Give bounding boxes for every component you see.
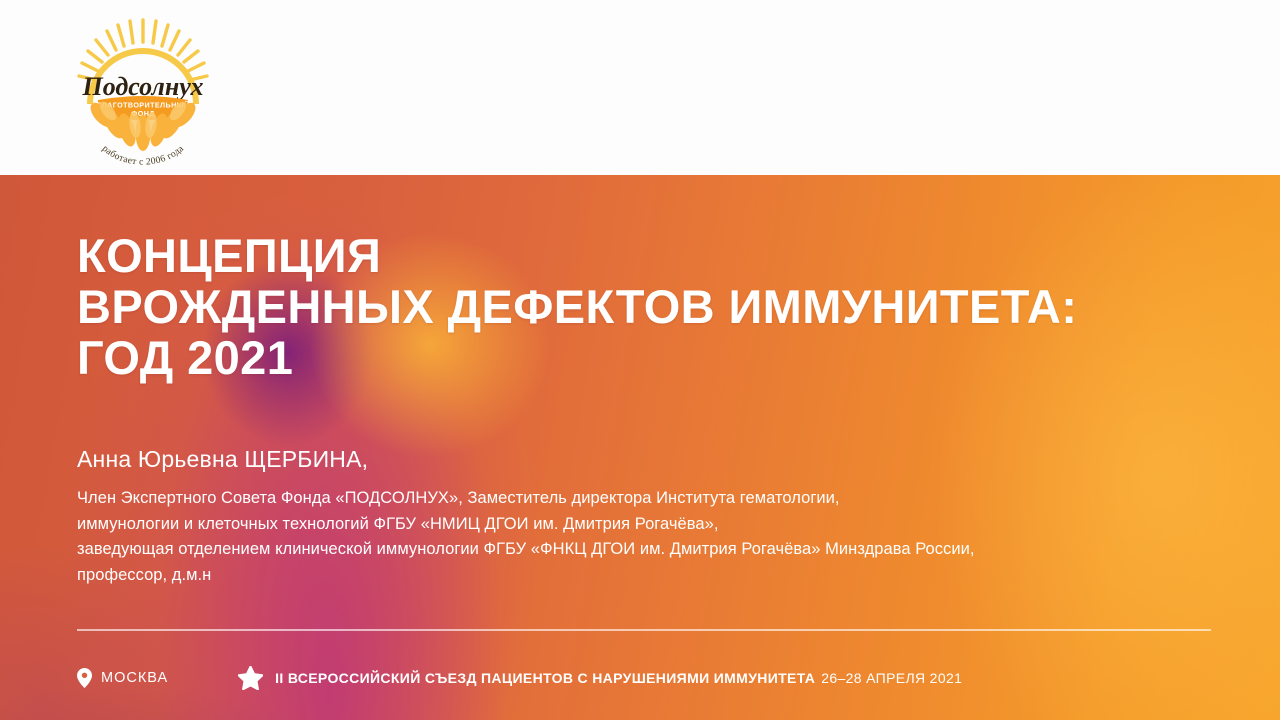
location-pin-icon bbox=[77, 668, 92, 688]
affiliation-line-3: заведующая отделением клинической иммуно… bbox=[77, 537, 1237, 563]
slide-background-gradient: КОНЦЕПЦИЯ ВРОЖДЕННЫХ ДЕФЕКТОВ ИММУНИТЕТА… bbox=[0, 175, 1280, 720]
affiliation-line-2: иммунологии и клеточных технологий ФГБУ … bbox=[77, 512, 1237, 538]
event-name: II ВСЕРОССИЙСКИЙ СЪЕЗД ПАЦИЕНТОВ С НАРУШ… bbox=[275, 670, 815, 686]
event-group: II ВСЕРОССИЙСКИЙ СЪЕЗД ПАЦИЕНТОВ С НАРУШ… bbox=[238, 666, 962, 690]
footer-divider bbox=[77, 629, 1211, 631]
event-text: II ВСЕРОССИЙСКИЙ СЪЕЗД ПАЦИЕНТОВ С НАРУШ… bbox=[275, 670, 962, 686]
author-name: Анна Юрьевна ЩЕРБИНА, bbox=[77, 446, 368, 473]
location-group: МОСКВА bbox=[77, 668, 168, 688]
event-dates: 26–28 АПРЕЛЯ 2021 bbox=[821, 670, 962, 686]
slide-header: Подсолнух БЛАГОТВОРИТЕЛЬНЫЙ ФОНД bbox=[0, 0, 1280, 175]
slide-content: КОНЦЕПЦИЯ ВРОЖДЕННЫХ ДЕФЕКТОВ ИММУНИТЕТА… bbox=[0, 175, 1280, 720]
city-label: МОСКВА bbox=[101, 670, 168, 686]
presentation-slide: Подсолнух БЛАГОТВОРИТЕЛЬНЫЙ ФОНД bbox=[0, 0, 1280, 720]
author-affiliation: Член Экспертного Совета Фонда «ПОДСОЛНУХ… bbox=[77, 486, 1237, 588]
affiliation-line-1: Член Экспертного Совета Фонда «ПОДСОЛНУХ… bbox=[77, 486, 1237, 512]
star-icon bbox=[238, 666, 263, 690]
affiliation-line-4: профессор, д.м.н bbox=[77, 563, 1237, 589]
slide-footer: МОСКВА II ВСЕРОССИЙСКИЙ СЪЕЗД ПАЦИЕНТОВ … bbox=[77, 663, 962, 693]
podsolnukh-foundation-logo: Подсолнух БЛАГОТВОРИТЕЛЬНЫЙ ФОНД bbox=[62, 12, 224, 167]
slide-title: КОНЦЕПЦИЯ ВРОЖДЕННЫХ ДЕФЕКТОВ ИММУНИТЕТА… bbox=[77, 230, 1227, 383]
